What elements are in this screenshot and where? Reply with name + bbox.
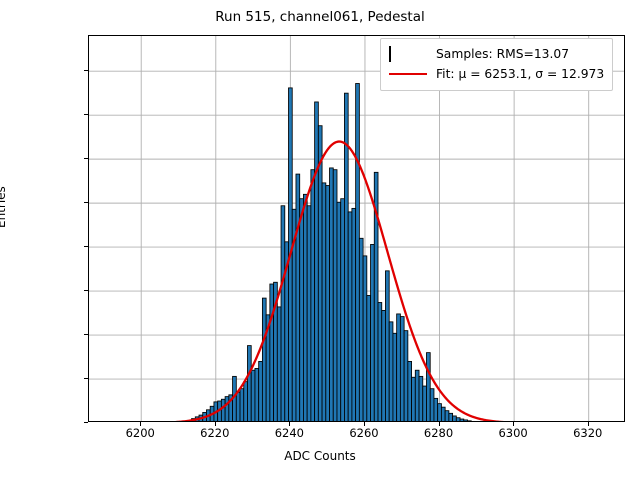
y-tick-mark (84, 202, 88, 203)
y-axis-label: Entries (0, 186, 8, 228)
x-tick-mark (513, 422, 514, 426)
x-tick-label: 6240 (275, 426, 304, 440)
y-tick-mark (84, 378, 88, 379)
x-tick-mark (289, 422, 290, 426)
y-tick-mark (84, 70, 88, 71)
x-tick-mark (439, 422, 440, 426)
legend-label-fit: Fit: μ = 6253.1, σ = 12.973 (436, 67, 604, 81)
legend-swatch-fit (389, 67, 427, 81)
legend-label-samples: Samples: RMS=13.07 (436, 47, 569, 61)
x-tick-mark (140, 422, 141, 426)
chart-title: Run 515, channel061, Pedestal (0, 9, 640, 25)
x-tick-label: 6220 (200, 426, 229, 440)
x-axis-label: ADC Counts (0, 449, 640, 463)
x-tick-mark (215, 422, 216, 426)
gaussian-fit-curve (89, 36, 624, 421)
y-tick-mark (84, 114, 88, 115)
plot-area (88, 35, 625, 422)
x-tick-label: 6300 (498, 426, 527, 440)
legend: Samples: RMS=13.07 Fit: μ = 6253.1, σ = … (380, 38, 613, 91)
legend-item-samples: Samples: RMS=13.07 (389, 44, 604, 64)
y-tick-mark (84, 422, 88, 423)
x-tick-label: 6260 (349, 426, 378, 440)
x-tick-mark (364, 422, 365, 426)
legend-item-fit: Fit: μ = 6253.1, σ = 12.973 (389, 64, 604, 84)
y-tick-mark (84, 246, 88, 247)
y-tick-mark (84, 158, 88, 159)
x-tick-label: 6320 (573, 426, 602, 440)
figure: Run 515, channel061, Pedestal 0500010000… (0, 0, 640, 480)
x-tick-label: 6280 (424, 426, 453, 440)
x-tick-mark (588, 422, 589, 426)
legend-swatch-samples (389, 47, 427, 61)
plot-inner (89, 36, 624, 421)
y-tick-mark (84, 290, 88, 291)
x-tick-label: 6200 (126, 426, 155, 440)
y-tick-mark (84, 334, 88, 335)
